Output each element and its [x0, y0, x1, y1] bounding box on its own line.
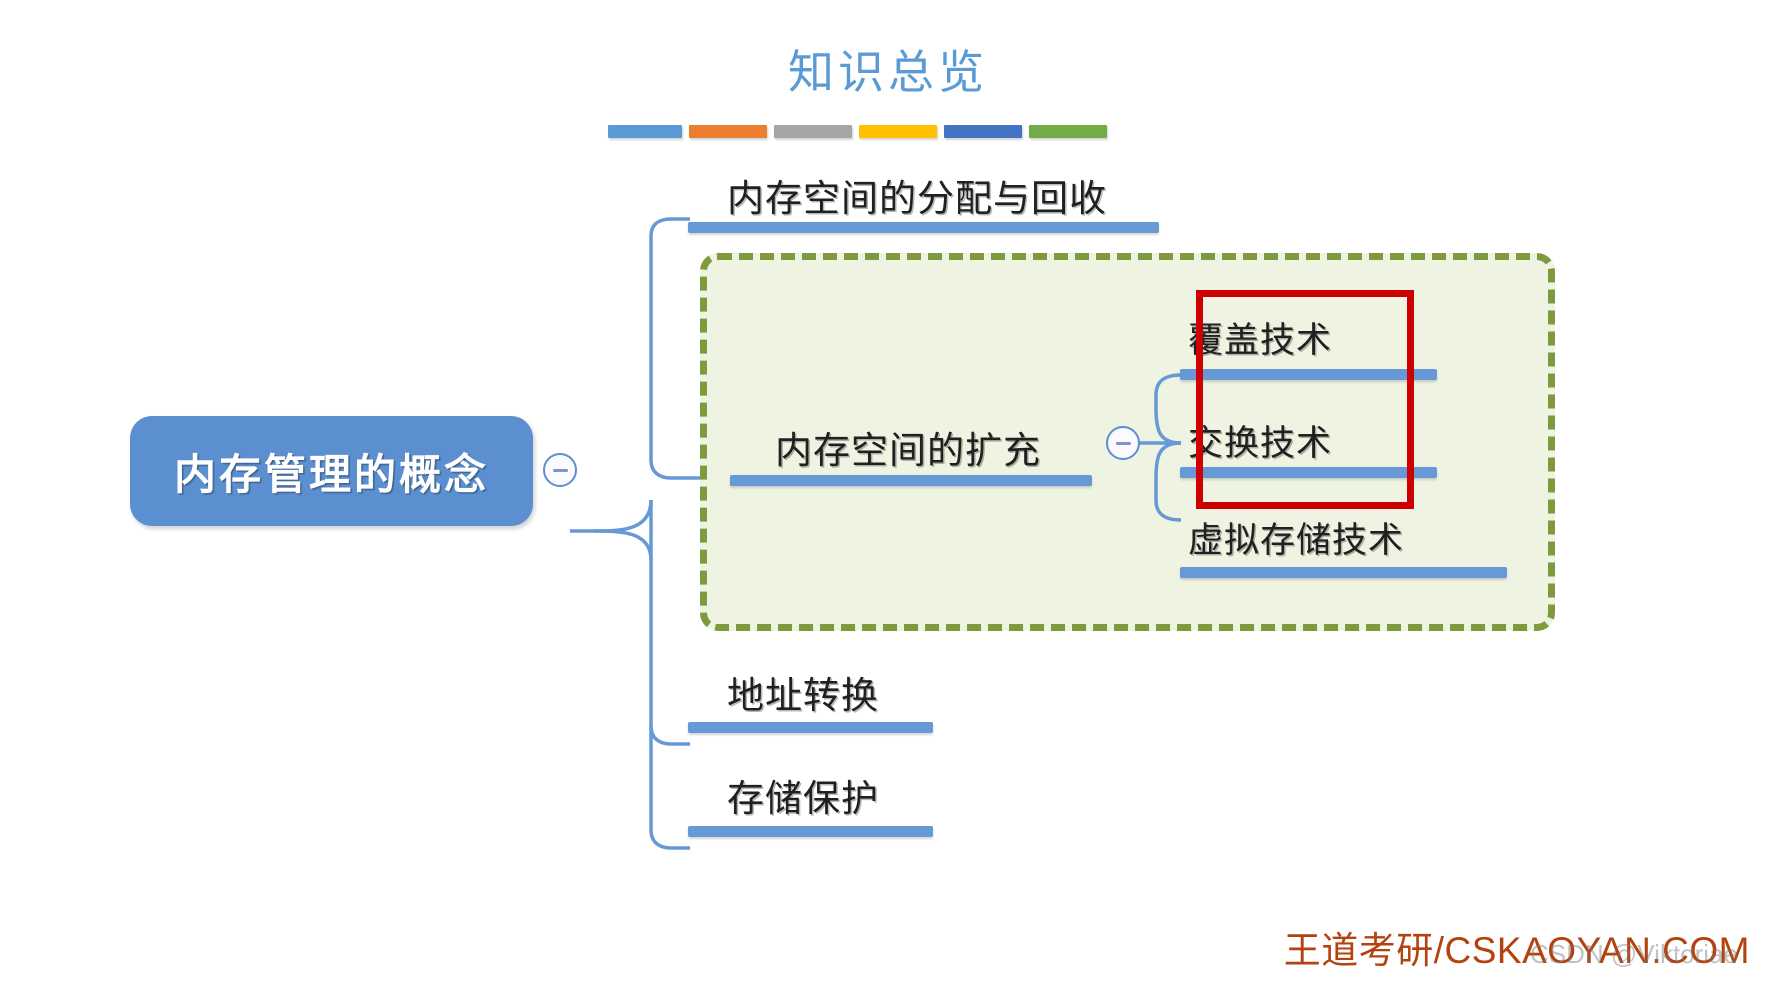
root-collapse-toggle[interactable]	[543, 453, 577, 487]
subnode-underline-virtual	[1180, 567, 1507, 578]
branch-label-allocation[interactable]: 内存空间的分配与回收	[727, 168, 1107, 222]
branch-underline-allocation	[688, 222, 1159, 233]
branch-label-expansion[interactable]: 内存空间的扩充	[775, 420, 1041, 474]
branch-label-address-translation[interactable]: 地址转换	[727, 665, 879, 719]
branch-underline-expansion	[730, 475, 1092, 486]
branch-label-storage-protection[interactable]: 存储保护	[727, 768, 879, 822]
branch-underline-address-translation	[688, 722, 933, 733]
minus-icon	[553, 469, 568, 472]
csdn-attribution-watermark: CSDN @Viktoriae	[1530, 939, 1738, 970]
root-node-label: 内存管理的概念	[130, 416, 533, 526]
expansion-collapse-toggle[interactable]	[1106, 426, 1140, 460]
red-emphasis-box	[1196, 290, 1414, 509]
slide-canvas: 知识总览	[0, 0, 1776, 992]
branch-underline-storage-protection	[688, 826, 933, 837]
subnode-label-virtual[interactable]: 虚拟存储技术	[1188, 512, 1404, 563]
minus-icon	[1116, 442, 1131, 445]
